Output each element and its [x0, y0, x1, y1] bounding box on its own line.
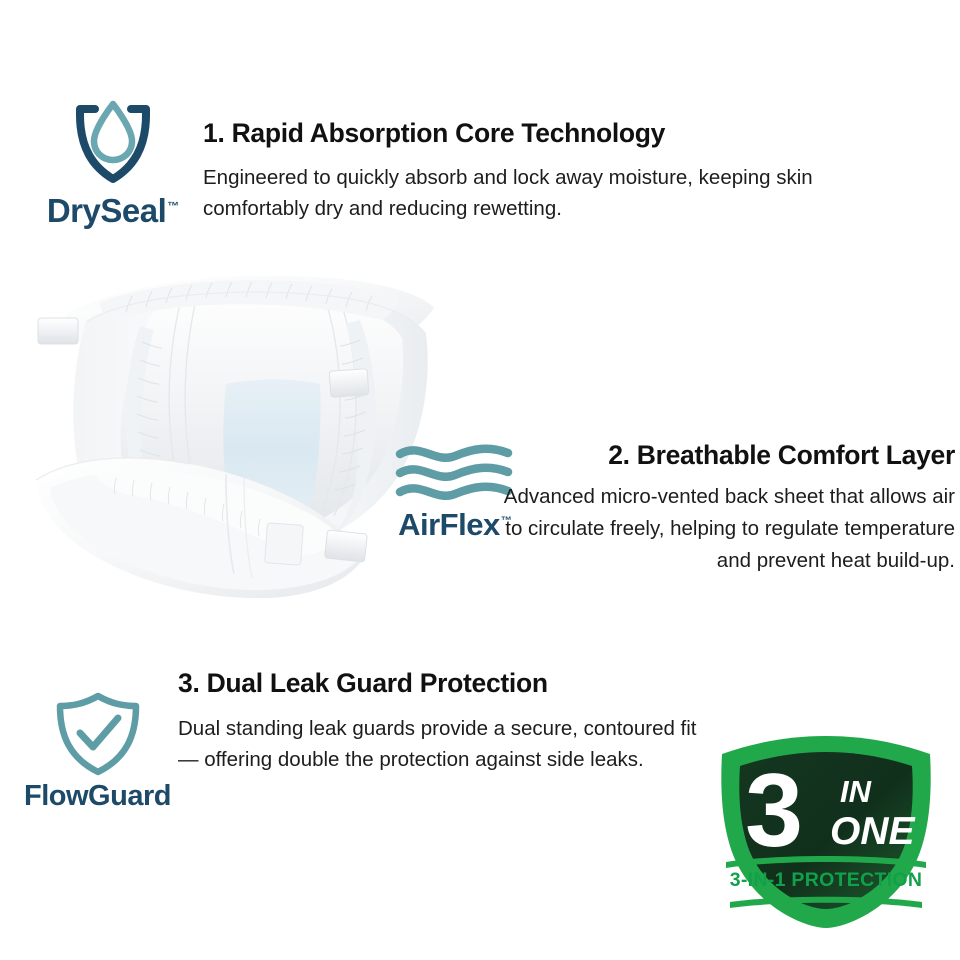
badge-3-in-1: 3 IN ONE 3-IN-1 PROTECTION	[700, 728, 952, 928]
feature-3-title: 3. Dual Leak Guard Protection	[178, 668, 738, 699]
feature-3-body: Dual standing leak guards provide a secu…	[178, 713, 698, 775]
badge-caption: 3-IN-1 PROTECTION	[700, 869, 952, 892]
badge-line-one: ONE	[830, 810, 916, 853]
feature-block-3: 3. Dual Leak Guard Protection Dual stand…	[178, 668, 738, 775]
feature-1-body: Engineered to quickly absorb and lock aw…	[203, 162, 883, 224]
infographic-canvas: DrySeal™ 1. Rapid Absorption Core Techno…	[0, 0, 960, 960]
feature-block-1: 1. Rapid Absorption Core Technology Engi…	[203, 118, 903, 224]
feature-2-body: Advanced micro-vented back sheet that al…	[500, 481, 955, 577]
brand-lockup-flowguard: FlowGuard	[8, 690, 188, 813]
brand-name-dryseal: DrySeal™	[47, 192, 179, 230]
trademark-symbol: ™	[167, 199, 179, 213]
brand-name-flowguard: FlowGuard	[24, 780, 172, 813]
feature-2-title: 2. Breathable Comfort Layer	[500, 440, 955, 471]
brand-name-airflex: AirFlex™	[398, 507, 512, 543]
product-photo	[30, 262, 440, 602]
shield-check-icon	[8, 690, 188, 778]
feature-1-title: 1. Rapid Absorption Core Technology	[203, 118, 903, 149]
shield-droplet-icon	[8, 96, 218, 188]
brand-text: AirFlex	[398, 507, 500, 542]
feature-block-2: 2. Breathable Comfort Layer Advanced mic…	[500, 440, 955, 577]
badge-numeral: 3	[745, 753, 803, 869]
brand-text: DrySeal	[47, 192, 166, 229]
brand-text: FlowGuard	[24, 780, 171, 812]
badge-line-in: IN	[840, 774, 872, 809]
brand-lockup-dryseal: DrySeal™	[8, 96, 218, 230]
